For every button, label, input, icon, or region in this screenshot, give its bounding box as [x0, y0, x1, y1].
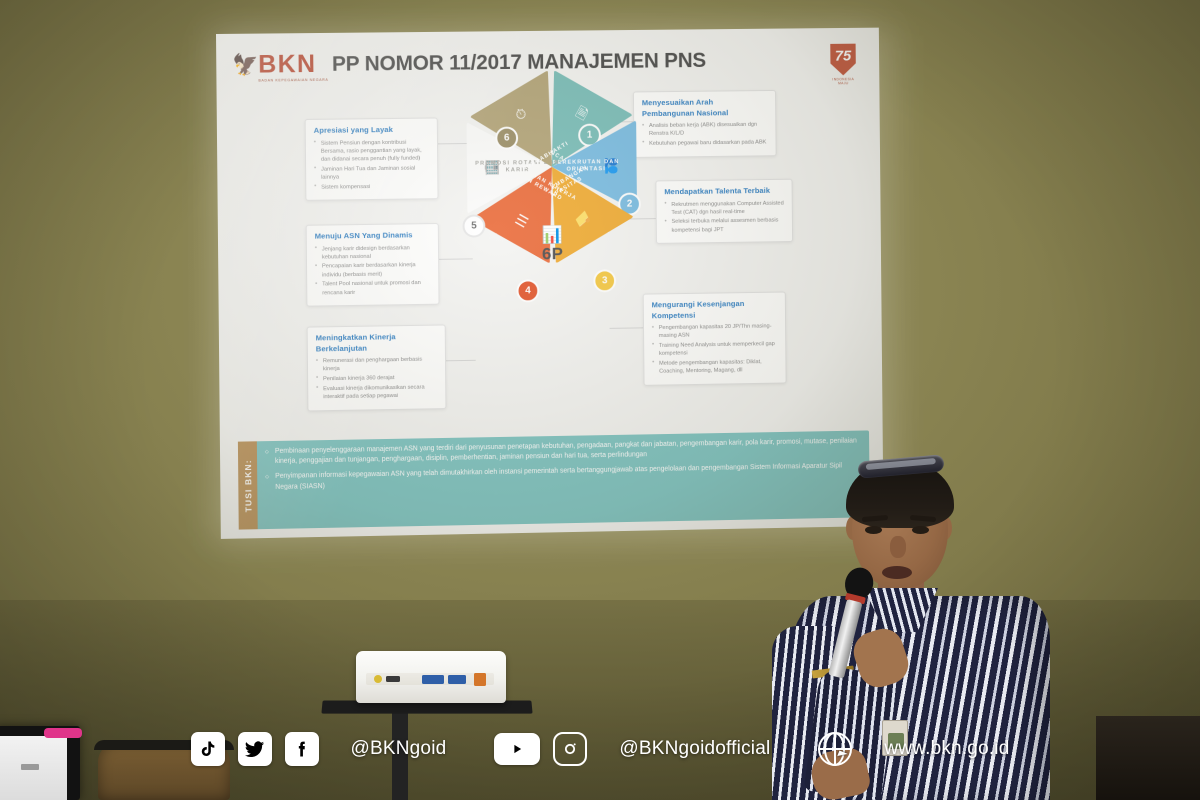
logo-75-indonesia-maju: INDONESIA MAJU: [828, 44, 858, 90]
card-menuju-asn-dinamis: Menuju ASN Yang Dinamis Jenjang karir di…: [306, 223, 440, 307]
list-item: Sistem Pensiun dengan kontribusi Bersama…: [314, 138, 429, 164]
bkn-logo: BKN BADAN KEPEGAWAIAN NEGARA: [258, 51, 328, 83]
six-p-wheel-diagram: 🗎 PERENCANAAN 1 👥 PEREKRUTAN DAN ORIENTA…: [448, 107, 658, 398]
list-item: Evaluasi kinerja dikomunikasikan secara …: [316, 383, 437, 401]
card-mendapatkan-talenta: Mendapatkan Talenta Terbaik Rekrutmen me…: [655, 179, 793, 244]
card-heading: Apresiasi yang Layak: [314, 125, 429, 137]
segment-badge-5: 5: [462, 214, 485, 237]
list-item: Seleksi terbuka melalui assesmen berbasi…: [665, 217, 785, 235]
list-item: Pengembangan kapasitas 20 JP/Thn masing-…: [652, 322, 778, 340]
card-bullets: Analisis beban kerja (ABK) disesuaikan d…: [642, 121, 768, 148]
list-item: Rekrutmen menggunakan Computer Assisted …: [664, 199, 784, 217]
tusi-tab-label: TUSI BKN:: [238, 441, 258, 529]
list-item: Sistem kompensasi: [314, 182, 429, 192]
office-chair: [98, 742, 230, 800]
list-item: Jenjang karir didesign berdasarkan kebut…: [315, 244, 430, 262]
vga-port-2: [448, 675, 466, 684]
hdmi-port: [386, 676, 400, 682]
slide-header: 🦅 BKN BADAN KEPEGAWAIAN NEGARA PP NOMOR …: [232, 46, 866, 92]
power-port: [474, 673, 486, 686]
presenter-nose: [890, 536, 906, 558]
list-item: Jaminan Hari Tua dan Jaminan sosial lain…: [314, 164, 429, 182]
monitor-accent: [44, 728, 82, 738]
desk-monitor: [0, 726, 80, 800]
list-item: Analisis beban kerja (ABK) disesuaikan d…: [642, 121, 768, 139]
segment-badge-6: 6: [495, 127, 518, 150]
card-bullets: Pengembangan kapasitas 20 JP/Thn masing-…: [652, 322, 778, 376]
monitor-screen: [0, 736, 67, 800]
presenter-eye: [912, 526, 929, 534]
presenter-id-badge: [882, 720, 908, 756]
card-bullets: Rekrutmen menggunakan Computer Assisted …: [664, 199, 784, 235]
shield-icon: [830, 44, 856, 76]
list-item: Talent Pool nasional untuk promosi dan r…: [315, 279, 430, 297]
card-heading: Menuju ASN Yang Dinamis: [315, 230, 430, 242]
video-port: [374, 675, 382, 683]
list-item: Metode pengembangan kapasitas: Diklat, C…: [652, 358, 778, 376]
tusi-tab-text: TUSI BKN:: [243, 459, 253, 512]
list-item: Training Need Analysis untuk memperkecil…: [652, 340, 778, 358]
garuda-icon: 🦅: [232, 54, 256, 80]
foreground-furniture: [1096, 716, 1200, 800]
presenter-eye: [865, 526, 882, 534]
bar-chart-icon: 📊: [518, 225, 587, 245]
card-apresiasi-yang-layak: Apresiasi yang Layak Sistem Pensiun deng…: [305, 117, 439, 201]
logo-75-caption: INDONESIA MAJU: [829, 77, 858, 85]
segment-badge-4: 4: [516, 279, 539, 302]
bkn-subtitle: BADAN KEPEGAWAIAN NEGARA: [258, 78, 328, 83]
card-bullets: Sistem Pensiun dengan kontribusi Bersama…: [314, 138, 430, 191]
card-heading: Meningkatkan Kinerja Berkelanjutan: [316, 332, 437, 355]
card-heading: Mendapatkan Talenta Terbaik: [664, 186, 784, 198]
vga-port: [422, 675, 444, 684]
card-heading: Menyesuaikan Arah Pembangunan Nasional: [642, 97, 768, 119]
segment-badge-3: 3: [593, 269, 616, 292]
card-bullets: Remunerasi dan penghargaan berbasis kine…: [316, 355, 438, 401]
wheel-center: 📊 6P: [518, 225, 587, 265]
list-item: Remunerasi dan penghargaan berbasis kine…: [316, 355, 437, 373]
card-heading: Mengurangi Kesenjangan Kompetensi: [652, 299, 778, 322]
list-item: Penilaian kinerja 360 derajat: [316, 373, 437, 383]
card-mengurangi-kesenjangan: Mengurangi Kesenjangan Kompetensi Pengem…: [643, 292, 787, 386]
card-bullets: Jenjang karir didesign berdasarkan kebut…: [315, 244, 431, 298]
presenter-mouth: [882, 566, 912, 579]
monitor-logo: [21, 764, 39, 770]
card-meningkatkan-kinerja: Meningkatkan Kinerja Berkelanjutan Remun…: [307, 324, 447, 411]
list-item: Kebutuhan pegawai baru didasarkan pada A…: [642, 138, 768, 148]
bkn-letters: BKN: [258, 51, 328, 78]
projector-device: [356, 651, 506, 703]
projector-stand: [392, 712, 408, 800]
wheel-center-label: 6P: [518, 244, 587, 265]
page-title: PP NOMOR 11/2017 MANAJEMEN PNS: [332, 49, 706, 77]
list-item: Pencapaian karir berdasarkan kinerja ind…: [315, 261, 430, 279]
